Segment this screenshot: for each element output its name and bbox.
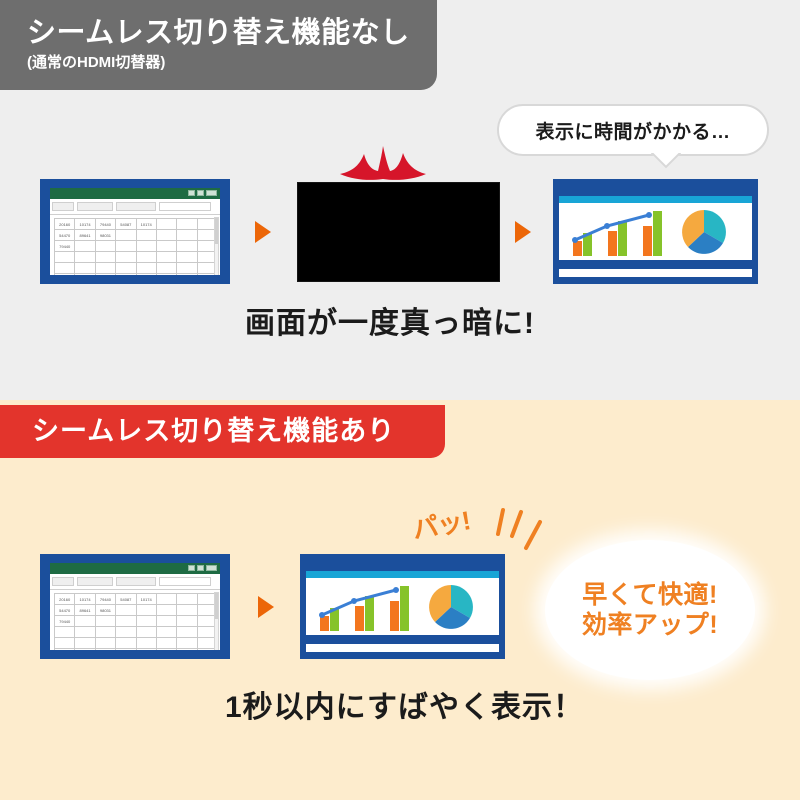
table-cell[interactable] xyxy=(95,274,115,276)
table-cell[interactable] xyxy=(177,605,197,616)
spreadsheet-toolbar xyxy=(50,574,220,590)
table-cell[interactable] xyxy=(136,627,156,638)
table-cell[interactable] xyxy=(177,627,197,638)
table-cell[interactable]: 79440 xyxy=(55,616,75,627)
close-icon[interactable] xyxy=(206,565,217,571)
table-cell[interactable] xyxy=(156,616,176,627)
table-cell[interactable] xyxy=(55,274,75,276)
black-screen xyxy=(297,182,500,282)
table-cell[interactable]: 20160 xyxy=(55,594,75,605)
play-triangle-icon-top-1 xyxy=(255,221,271,243)
table-cell[interactable] xyxy=(95,627,115,638)
formula-bar[interactable] xyxy=(159,577,211,586)
monitor-frame xyxy=(553,179,758,284)
chart-screen-top xyxy=(553,179,758,284)
table-cell[interactable] xyxy=(116,252,136,263)
infographic-page: シームレス切り替え機能なし (通常のHDMI切替器) 表示に時間がかかる… xyxy=(0,0,800,800)
vertical-scrollbar[interactable] xyxy=(214,592,219,650)
table-cell[interactable]: 89641 xyxy=(75,605,95,616)
table-cell[interactable] xyxy=(156,241,176,252)
chart-canvas xyxy=(559,203,752,260)
table-cell[interactable] xyxy=(156,649,176,651)
table-row: 79440 xyxy=(55,616,218,627)
table-cell[interactable] xyxy=(136,252,156,263)
table-cell[interactable] xyxy=(136,263,156,274)
table-cell[interactable]: 10174 xyxy=(136,219,156,230)
table-row: 2016010174794405408710174 xyxy=(55,219,218,230)
toolbar-field-3[interactable] xyxy=(116,577,156,586)
speech-bubble-tail xyxy=(651,153,681,177)
table-cell[interactable] xyxy=(156,263,176,274)
screen-content xyxy=(559,186,752,277)
chart-accent-bar xyxy=(559,196,752,203)
table-cell[interactable]: 54087 xyxy=(116,594,136,605)
toolbar-field-1[interactable] xyxy=(52,202,74,211)
caption-top: 画面が一度真っ暗に! xyxy=(245,298,535,342)
spreadsheet-screen-top: 2016010174794405408710174544708964198031… xyxy=(40,179,230,284)
table-cell[interactable] xyxy=(95,649,115,651)
table-cell[interactable]: 89641 xyxy=(75,230,95,241)
minimize-icon[interactable] xyxy=(188,565,195,571)
table-cell[interactable] xyxy=(55,627,75,638)
table-row: 79440 xyxy=(55,241,218,252)
window-buttons xyxy=(188,190,217,196)
formula-bar[interactable] xyxy=(159,202,211,211)
speech-bubble: 表示に時間がかかる… xyxy=(497,104,769,156)
table-cell[interactable] xyxy=(116,241,136,252)
banner-subtitle: (通常のHDMI切替器) xyxy=(27,55,437,72)
banner-title: シームレス切り替え機能なし xyxy=(27,18,437,50)
table-cell[interactable] xyxy=(75,638,95,649)
table-cell[interactable]: 98031 xyxy=(95,230,115,241)
speech-bubble-text: 表示に時間がかかる… xyxy=(535,117,730,144)
chart-graphic xyxy=(559,203,752,260)
toolbar-field-1[interactable] xyxy=(52,577,74,586)
table-cell[interactable]: 10174 xyxy=(136,594,156,605)
caption-bottom: 1秒以内にすばやく表示！ xyxy=(225,682,584,726)
chart-graphic xyxy=(306,578,499,635)
table-cell[interactable] xyxy=(156,605,176,616)
spreadsheet-grid[interactable]: 2016010174794405408710174544708964198031… xyxy=(54,218,218,275)
maximize-icon[interactable] xyxy=(197,565,204,571)
table-cell[interactable] xyxy=(75,274,95,276)
table-cell[interactable] xyxy=(136,649,156,651)
table-cell[interactable] xyxy=(116,616,136,627)
chart-footer-bar xyxy=(559,260,752,269)
chart-header-bar xyxy=(559,186,752,196)
spreadsheet-title-bar xyxy=(50,188,220,199)
table-cell[interactable] xyxy=(177,638,197,649)
toolbar-field-2[interactable] xyxy=(77,202,113,211)
spreadsheet-grid[interactable]: 2016010174794405408710174544708964198031… xyxy=(54,593,218,650)
spreadsheet-title-bar xyxy=(50,563,220,574)
toolbar-field-2[interactable] xyxy=(77,577,113,586)
chart-accent-bar xyxy=(306,571,499,578)
table-cell[interactable] xyxy=(116,263,136,274)
table-cell[interactable]: 54470 xyxy=(55,230,75,241)
table-cell[interactable] xyxy=(136,241,156,252)
table-row: 544708964198031 xyxy=(55,230,218,241)
play-triangle-icon-top-2 xyxy=(515,221,531,243)
table-cell[interactable] xyxy=(75,627,95,638)
table-cell[interactable] xyxy=(136,605,156,616)
monitor-frame: 2016010174794405408710174544708964198031… xyxy=(40,179,230,284)
table-cell[interactable] xyxy=(136,274,156,276)
chart-canvas xyxy=(306,578,499,635)
table-cell[interactable]: 79440 xyxy=(55,241,75,252)
scrollbar-thumb[interactable] xyxy=(215,593,218,619)
table-cell[interactable] xyxy=(177,241,197,252)
screen-content: 2016010174794405408710174544708964198031… xyxy=(50,563,220,650)
table-cell[interactable] xyxy=(55,649,75,651)
monitor-frame: 2016010174794405408710174544708964198031… xyxy=(40,554,230,659)
scrollbar-thumb[interactable] xyxy=(215,218,218,244)
table-cell[interactable] xyxy=(55,263,75,274)
table-cell[interactable]: 79440 xyxy=(95,594,115,605)
spreadsheet-screen-bottom: 2016010174794405408710174544708964198031… xyxy=(40,554,230,659)
table-cell[interactable] xyxy=(156,638,176,649)
table-cell[interactable] xyxy=(136,638,156,649)
table-cell[interactable] xyxy=(95,263,115,274)
table-cell[interactable] xyxy=(136,230,156,241)
spreadsheet-toolbar xyxy=(50,199,220,215)
table-cell[interactable] xyxy=(75,616,95,627)
table-row xyxy=(55,627,218,638)
table-row xyxy=(55,274,218,276)
table-cell[interactable] xyxy=(95,241,115,252)
benefit-badge: 早くて快適! 効率アップ! xyxy=(545,540,755,680)
table-cell[interactable] xyxy=(177,252,197,263)
table-cell[interactable] xyxy=(55,252,75,263)
table-row xyxy=(55,638,218,649)
table-cell[interactable] xyxy=(156,219,176,230)
table-cell[interactable] xyxy=(156,252,176,263)
table-cell[interactable] xyxy=(177,649,197,651)
table-cell[interactable]: 98031 xyxy=(95,605,115,616)
table-row: 2016010174794405408710174 xyxy=(55,594,218,605)
spreadsheet-body: 2016010174794405408710174544708964198031… xyxy=(50,590,220,650)
table-cell[interactable] xyxy=(136,616,156,627)
table-cell[interactable] xyxy=(156,274,176,276)
table-cell[interactable] xyxy=(156,627,176,638)
badge-line-2: 効率アップ! xyxy=(582,610,718,641)
table-cell[interactable] xyxy=(156,594,176,605)
table-cell[interactable] xyxy=(116,274,136,276)
table-cell[interactable] xyxy=(75,649,95,651)
spreadsheet-body: 2016010174794405408710174544708964198031… xyxy=(50,215,220,275)
minimize-icon[interactable] xyxy=(188,190,195,196)
play-triangle-icon-bottom-1 xyxy=(258,596,274,618)
monitor-frame xyxy=(300,554,505,659)
chart-screen-bottom xyxy=(300,554,505,659)
banner-without-seamless: シームレス切り替え機能なし (通常のHDMI切替器) xyxy=(0,0,437,90)
table-cell[interactable] xyxy=(75,241,95,252)
vertical-scrollbar[interactable] xyxy=(214,217,219,275)
table-cell[interactable] xyxy=(177,594,197,605)
table-row xyxy=(55,263,218,274)
black-screen-content xyxy=(297,182,500,282)
table-cell[interactable] xyxy=(177,230,197,241)
close-icon[interactable] xyxy=(206,190,217,196)
table-row xyxy=(55,649,218,651)
table-cell[interactable] xyxy=(95,616,115,627)
table-cell[interactable] xyxy=(95,252,115,263)
table-cell[interactable]: 20160 xyxy=(55,219,75,230)
screen-content xyxy=(306,561,499,652)
banner-with-seamless: シームレス切り替え機能あり xyxy=(0,405,445,458)
table-cell[interactable]: 79440 xyxy=(95,219,115,230)
table-cell[interactable] xyxy=(177,274,197,276)
table-row xyxy=(55,252,218,263)
screen-content: 2016010174794405408710174544708964198031… xyxy=(50,188,220,275)
table-cell[interactable] xyxy=(95,638,115,649)
table-cell[interactable]: 54470 xyxy=(55,605,75,616)
table-cell[interactable] xyxy=(116,649,136,651)
table-cell[interactable] xyxy=(116,627,136,638)
banner-title: シームレス切り替え機能あり xyxy=(32,417,445,447)
table-cell[interactable] xyxy=(156,230,176,241)
chart-footer-bar xyxy=(306,635,499,644)
maximize-icon[interactable] xyxy=(197,190,204,196)
table-cell[interactable] xyxy=(55,638,75,649)
table-cell[interactable] xyxy=(177,263,197,274)
badge-line-1: 早くて快適! xyxy=(582,580,718,611)
table-row: 544708964198031 xyxy=(55,605,218,616)
table-cell[interactable] xyxy=(116,638,136,649)
table-cell[interactable] xyxy=(116,605,136,616)
table-cell[interactable] xyxy=(177,219,197,230)
table-cell[interactable] xyxy=(75,263,95,274)
table-cell[interactable]: 10174 xyxy=(75,219,95,230)
table-cell[interactable] xyxy=(177,616,197,627)
table-cell[interactable]: 54087 xyxy=(116,219,136,230)
toolbar-field-3[interactable] xyxy=(116,202,156,211)
table-cell[interactable]: 10174 xyxy=(75,594,95,605)
table-cell[interactable] xyxy=(75,252,95,263)
window-buttons xyxy=(188,565,217,571)
table-cell[interactable] xyxy=(116,230,136,241)
chart-header-bar xyxy=(306,561,499,571)
